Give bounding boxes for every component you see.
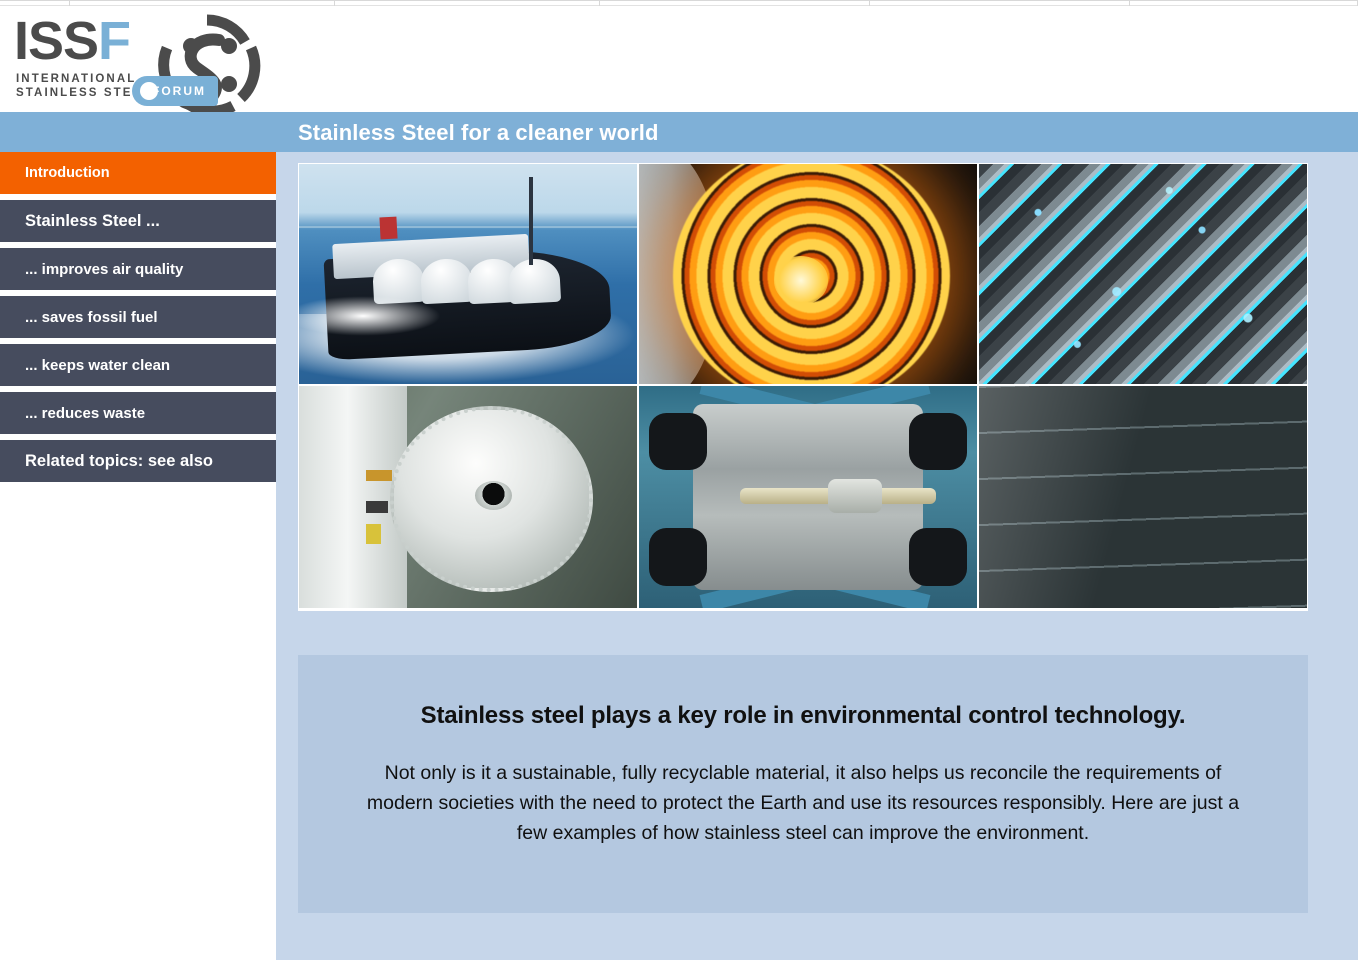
panel-label bbox=[366, 501, 388, 512]
car-tyre bbox=[909, 528, 966, 586]
issf-subtitle-line1: INTERNATIONAL bbox=[16, 72, 151, 86]
sidebar-item-saves-fossil-fuel[interactable]: ... saves fossil fuel bbox=[0, 296, 276, 338]
panel-label bbox=[366, 524, 381, 544]
muffler bbox=[828, 479, 882, 512]
sidebar-item-improves-air-quality[interactable]: ... improves air quality bbox=[0, 248, 276, 290]
sidebar-item-stainless-steel[interactable]: Stainless Steel ... bbox=[0, 200, 276, 242]
sidebar-item-label: Stainless Steel ... bbox=[25, 212, 160, 231]
sidebar-item-related-topics[interactable]: Related topics: see also bbox=[0, 440, 276, 482]
issf-wordmark-accent: F bbox=[98, 11, 130, 71]
issf-logo[interactable]: ISSF INTERNATIONAL STAINLESS STEEL FORUM bbox=[0, 6, 290, 110]
tab-segment[interactable] bbox=[600, 0, 870, 6]
main-content: Stainless steel plays a key role in envi… bbox=[276, 152, 1358, 960]
sidebar-item-label: ... saves fossil fuel bbox=[25, 309, 158, 326]
water-droplets bbox=[979, 164, 1307, 384]
sidebar-nav: Introduction Stainless Steel ... ... imp… bbox=[0, 152, 276, 960]
sidebar-item-introduction[interactable]: Introduction bbox=[0, 152, 276, 194]
issf-subtitle: INTERNATIONAL STAINLESS STEEL bbox=[16, 72, 151, 100]
glowing-spiral-heating-element-photo bbox=[638, 163, 978, 385]
ship-mast bbox=[529, 177, 533, 265]
sea-horizon bbox=[299, 226, 637, 228]
tab-segment[interactable] bbox=[335, 0, 600, 6]
panel-label bbox=[366, 470, 392, 481]
sidebar-item-label: ... reduces waste bbox=[25, 405, 145, 422]
tab-segment[interactable] bbox=[1130, 0, 1358, 6]
intro-text-panel: Stainless steel plays a key role in envi… bbox=[298, 655, 1308, 913]
issf-wordmark: ISSF bbox=[14, 14, 130, 68]
sidebar-item-reduces-waste[interactable]: ... reduces waste bbox=[0, 392, 276, 434]
intro-heading: Stainless steel plays a key role in envi… bbox=[298, 702, 1308, 730]
sidebar-item-label: ... keeps water clean bbox=[25, 357, 170, 374]
ship-funnel bbox=[380, 216, 398, 239]
lng-carrier-ship-photo bbox=[298, 163, 638, 385]
bow-foam bbox=[298, 296, 441, 336]
car-underbody-exhaust-photo bbox=[638, 385, 978, 609]
forum-badge-label: FORUM bbox=[152, 84, 206, 98]
sidebar-item-label: Related topics: see also bbox=[25, 452, 213, 471]
car-tyre bbox=[649, 413, 706, 471]
tab-segment[interactable] bbox=[870, 0, 1130, 6]
page-title: Stainless Steel for a cleaner world bbox=[298, 120, 659, 146]
panel-glint bbox=[979, 386, 1307, 608]
issf-wordmark-dark: ISS bbox=[14, 11, 98, 71]
stainless-tank-vessel-photo bbox=[298, 385, 638, 609]
solar-panel-array-photo bbox=[978, 385, 1308, 609]
sidebar-item-label: ... improves air quality bbox=[25, 261, 183, 278]
page-header-bar: Stainless Steel for a cleaner world bbox=[0, 112, 1358, 152]
image-gallery bbox=[298, 163, 1308, 611]
sidebar-item-label: Introduction bbox=[25, 165, 110, 181]
condenser-fins-water-droplets-photo bbox=[978, 163, 1308, 385]
car-tyre bbox=[909, 413, 966, 471]
car-tyre bbox=[649, 528, 706, 586]
intro-body: Not only is it a sustainable, fully recy… bbox=[354, 758, 1252, 848]
spiral-hot-core bbox=[774, 256, 828, 304]
vessel-nozzle bbox=[475, 481, 512, 510]
sidebar-item-keeps-water-clean[interactable]: ... keeps water clean bbox=[0, 344, 276, 386]
